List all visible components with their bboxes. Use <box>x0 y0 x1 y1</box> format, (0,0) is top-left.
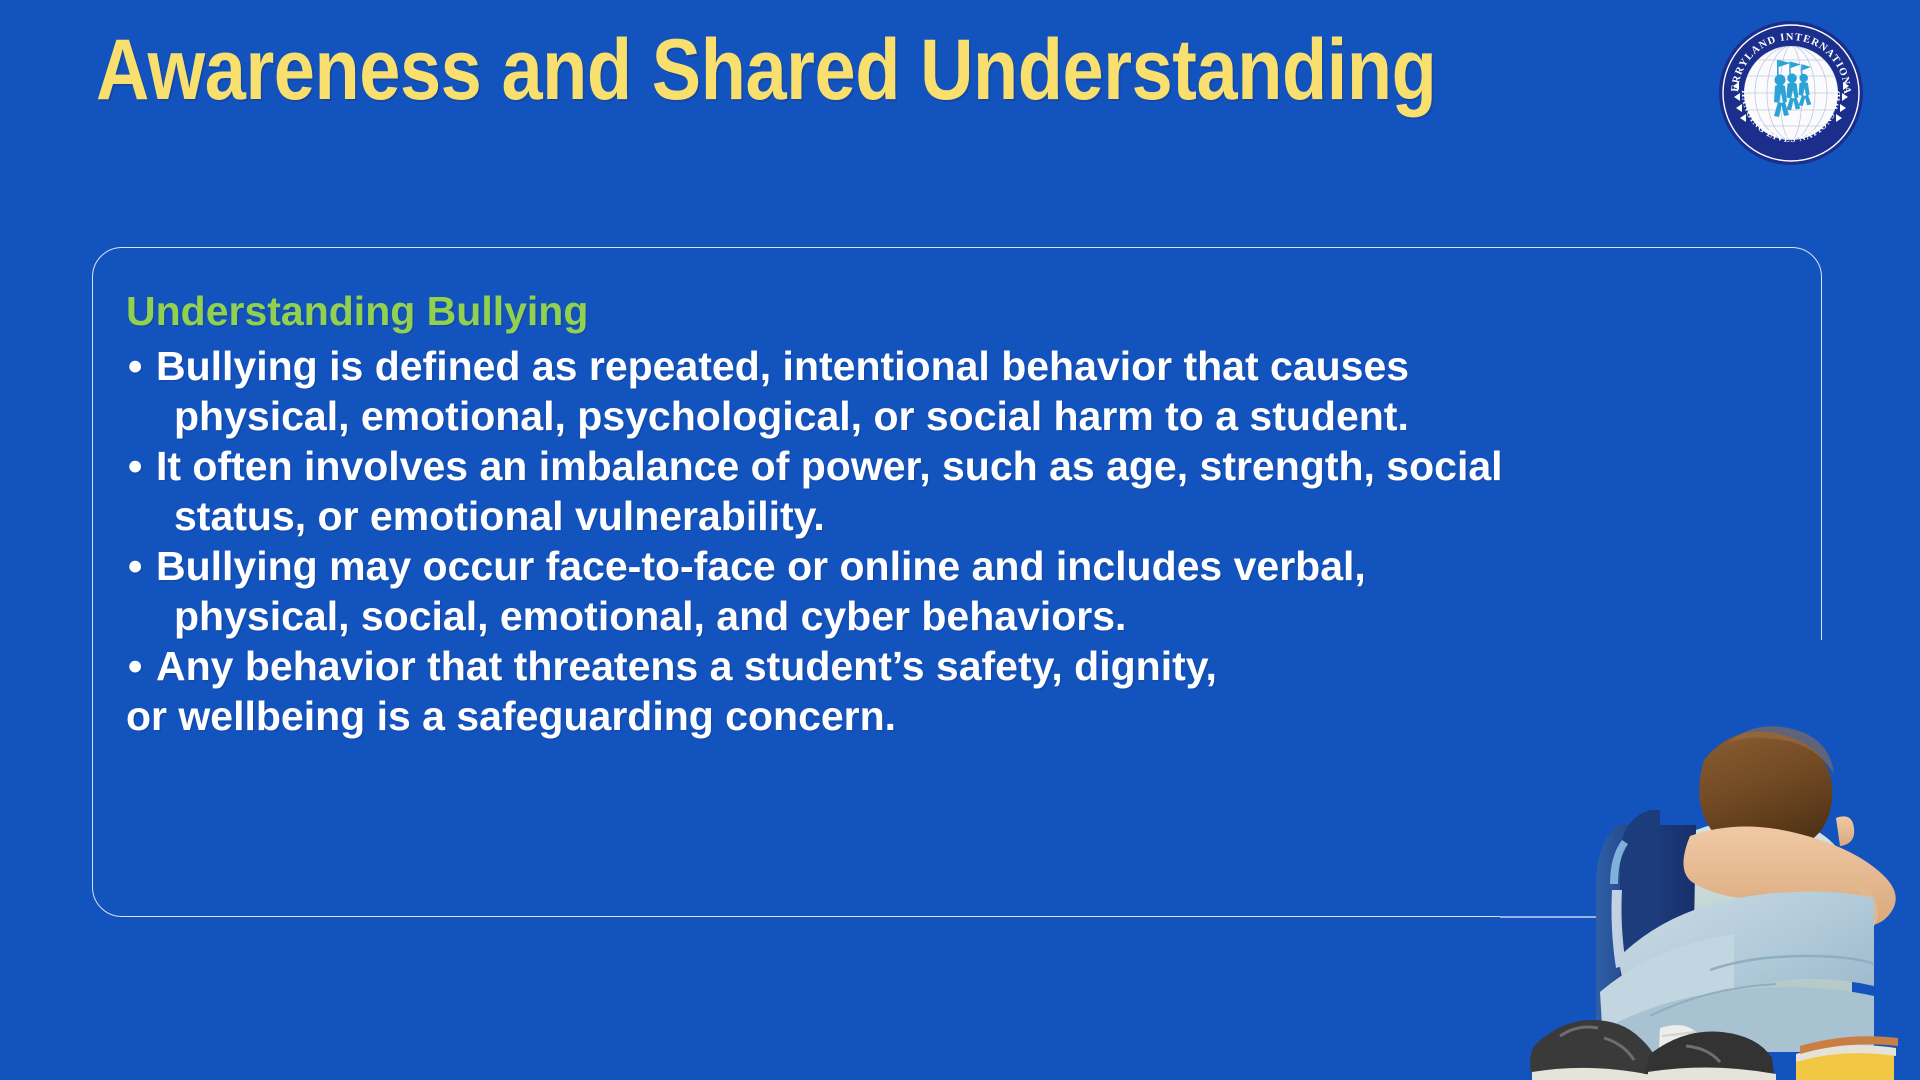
bullet-line: It often involves an imbalance of power,… <box>156 441 1826 491</box>
bullet-line: Bullying may occur face-to-face or onlin… <box>156 541 1826 591</box>
bullet-line: status, or emotional vulnerability. <box>174 491 1826 541</box>
merryland-international-logo: MERRYLAND INTERNATIONAL CHANGING LIVES N… <box>1718 20 1864 166</box>
bullet-line: physical, emotional, psychological, or s… <box>174 391 1826 441</box>
bullet-item: •Bullying is defined as repeated, intent… <box>126 341 1826 441</box>
bullet-dot: • <box>128 541 142 591</box>
bullet-dot: • <box>128 441 142 491</box>
sad-student-photo <box>1500 640 1920 1080</box>
slide: Awareness and Shared Understanding <box>0 0 1920 1080</box>
bullet-dot: • <box>128 341 142 391</box>
bullet-line: Bullying is defined as repeated, intenti… <box>156 341 1826 391</box>
page-title: Awareness and Shared Understanding <box>96 22 1438 118</box>
section-heading: Understanding Bullying <box>126 286 1826 336</box>
bullet-dot: • <box>128 641 142 691</box>
bullet-item: •It often involves an imbalance of power… <box>126 441 1826 541</box>
bullet-line: physical, social, emotional, and cyber b… <box>174 591 1826 641</box>
bullet-item: •Bullying may occur face-to-face or onli… <box>126 541 1826 641</box>
